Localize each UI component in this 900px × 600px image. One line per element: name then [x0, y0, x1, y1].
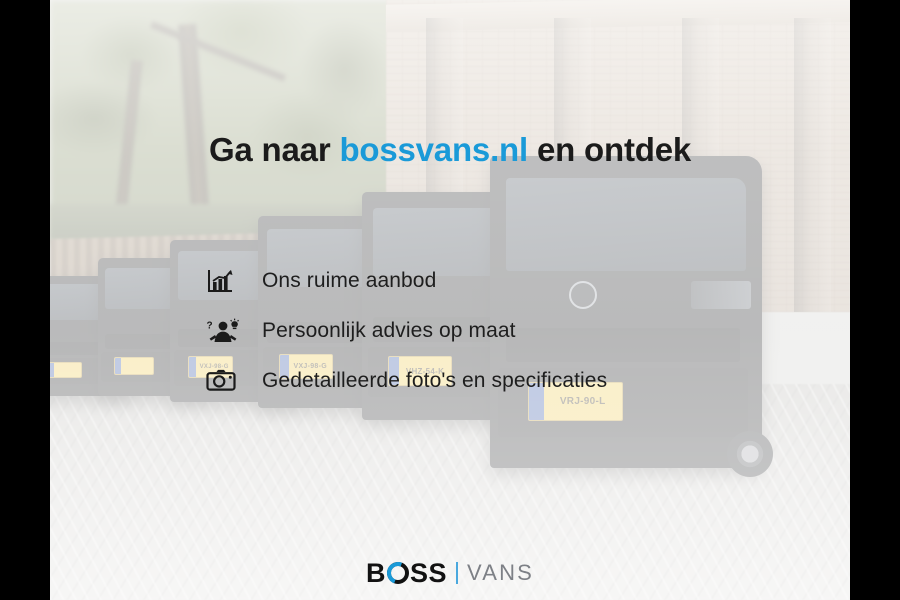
- logo-wordmark-boss: B SS: [366, 560, 447, 587]
- feature-label: Gedetailleerde foto's en specificaties: [262, 369, 607, 393]
- feature-item-aanbod: Ons ruime aanbod: [206, 256, 607, 306]
- camera-icon: [206, 369, 262, 393]
- banner-content: Ga naar bossvans.nl en ontdek Ons ruime …: [0, 0, 900, 600]
- logo-divider: [456, 562, 458, 584]
- headline-link-text[interactable]: bossvans.nl: [339, 131, 528, 168]
- feature-list: Ons ruime aanbod ? Persoonlijk adv: [206, 256, 607, 406]
- headline-after: en ontdek: [528, 131, 691, 168]
- logo-letter-b: B: [366, 560, 386, 587]
- personal-advice-icon: ?: [206, 318, 262, 344]
- headline: Ga naar bossvans.nl en ontdek: [0, 131, 900, 169]
- banner-canvas: VXJ-98-G VXJ-98-G VHZ-54-K: [0, 0, 900, 600]
- feature-label: Ons ruime aanbod: [262, 269, 436, 293]
- feature-item-fotos: Gedetailleerde foto's en specificaties: [206, 356, 607, 406]
- boss-vans-logo[interactable]: B SS VANS: [0, 556, 900, 590]
- bar-chart-trend-icon: [206, 268, 262, 294]
- svg-text:?: ?: [207, 321, 213, 332]
- logo-wordmark-vans: VANS: [467, 560, 534, 586]
- feature-item-advies: ? Persoonlijk advies op maat: [206, 306, 607, 356]
- logo-ring-accent-arc: [383, 558, 412, 587]
- headline-before: Ga naar: [209, 131, 339, 168]
- logo-o-ring-icon: [387, 562, 409, 584]
- feature-label: Persoonlijk advies op maat: [262, 319, 516, 343]
- logo-letters-ss: SS: [410, 560, 447, 587]
